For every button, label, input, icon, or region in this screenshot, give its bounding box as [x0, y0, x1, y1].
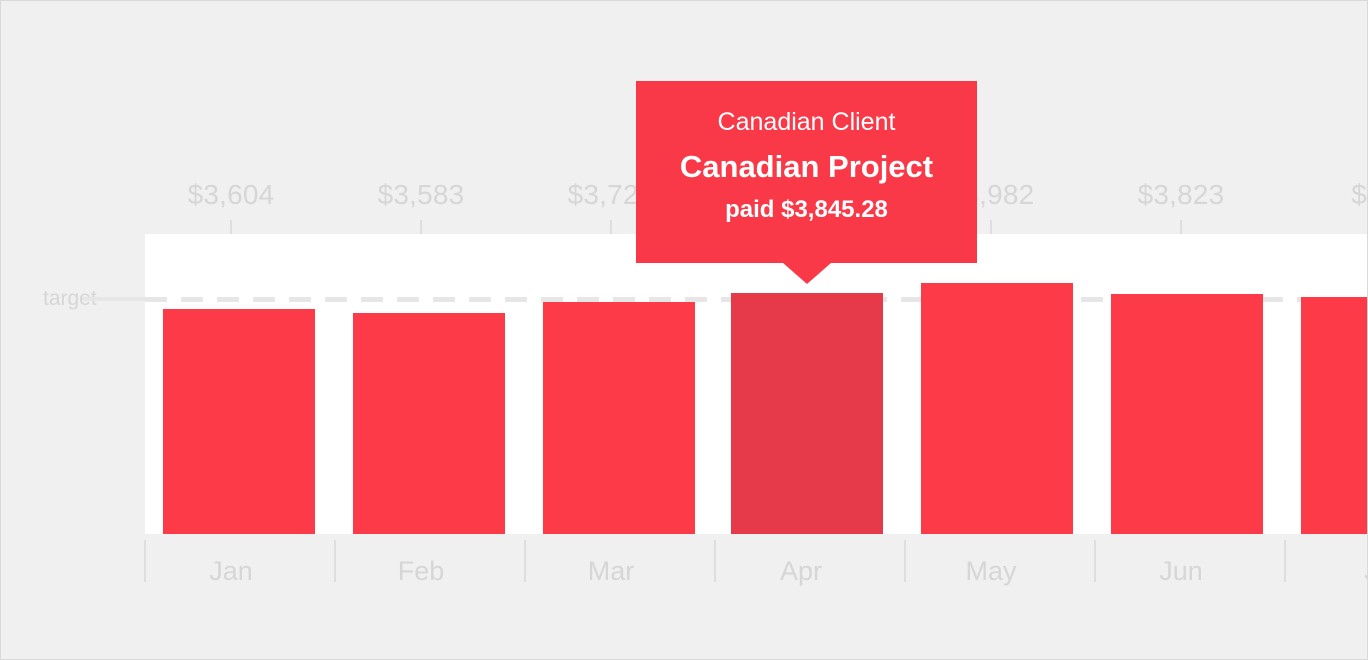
month-separator-6: [1284, 540, 1286, 582]
bar-feb[interactable]: [353, 313, 505, 534]
value-tick-may: [990, 220, 992, 234]
tooltip-paid-amount: paid $3,845.28: [636, 195, 977, 225]
month-label-jan[interactable]: Jan: [155, 556, 307, 587]
value-label-jul: $3,: [1295, 179, 1368, 211]
month-axis: Jan Feb Mar Apr May Jun J: [145, 534, 1368, 609]
bar-jan[interactable]: [163, 309, 315, 534]
bar-apr[interactable]: [731, 293, 883, 534]
tooltip-arrow-icon: [783, 263, 831, 284]
month-separator-2: [524, 540, 526, 582]
value-label-jan: $3,604: [155, 179, 307, 211]
month-separator-3: [714, 540, 716, 582]
bar-tooltip: Canadian Client Canadian Project paid $3…: [636, 81, 977, 263]
bar-jul[interactable]: [1301, 297, 1368, 534]
month-label-jul[interactable]: J: [1295, 556, 1368, 587]
tooltip-client-name: Canadian Client: [636, 107, 977, 138]
bar-may[interactable]: [921, 283, 1073, 534]
value-tick-jan: [230, 220, 232, 234]
bar-chart-widget: $3,604 $3,583 $3,724 $3,845 $3,982 $3,82…: [0, 0, 1368, 660]
month-label-apr[interactable]: Apr: [725, 556, 877, 587]
month-separator-1: [334, 540, 336, 582]
bar-jun[interactable]: [1111, 294, 1263, 534]
value-tick-jun: [1180, 220, 1182, 234]
value-tick-mar: [610, 220, 612, 234]
month-separator-4: [904, 540, 906, 582]
bar-mar[interactable]: [543, 302, 695, 534]
month-label-feb[interactable]: Feb: [345, 556, 497, 587]
target-line-stub: [83, 297, 145, 301]
month-label-may[interactable]: May: [915, 556, 1067, 587]
month-label-mar[interactable]: Mar: [535, 556, 687, 587]
plot-area: [145, 234, 1368, 534]
month-label-jun[interactable]: Jun: [1105, 556, 1257, 587]
value-tick-feb: [420, 220, 422, 234]
month-separator-5: [1094, 540, 1096, 582]
value-label-jun: $3,823: [1105, 179, 1257, 211]
tooltip-project-name: Canadian Project: [636, 148, 977, 187]
month-separator-0: [144, 540, 146, 582]
value-label-feb: $3,583: [345, 179, 497, 211]
